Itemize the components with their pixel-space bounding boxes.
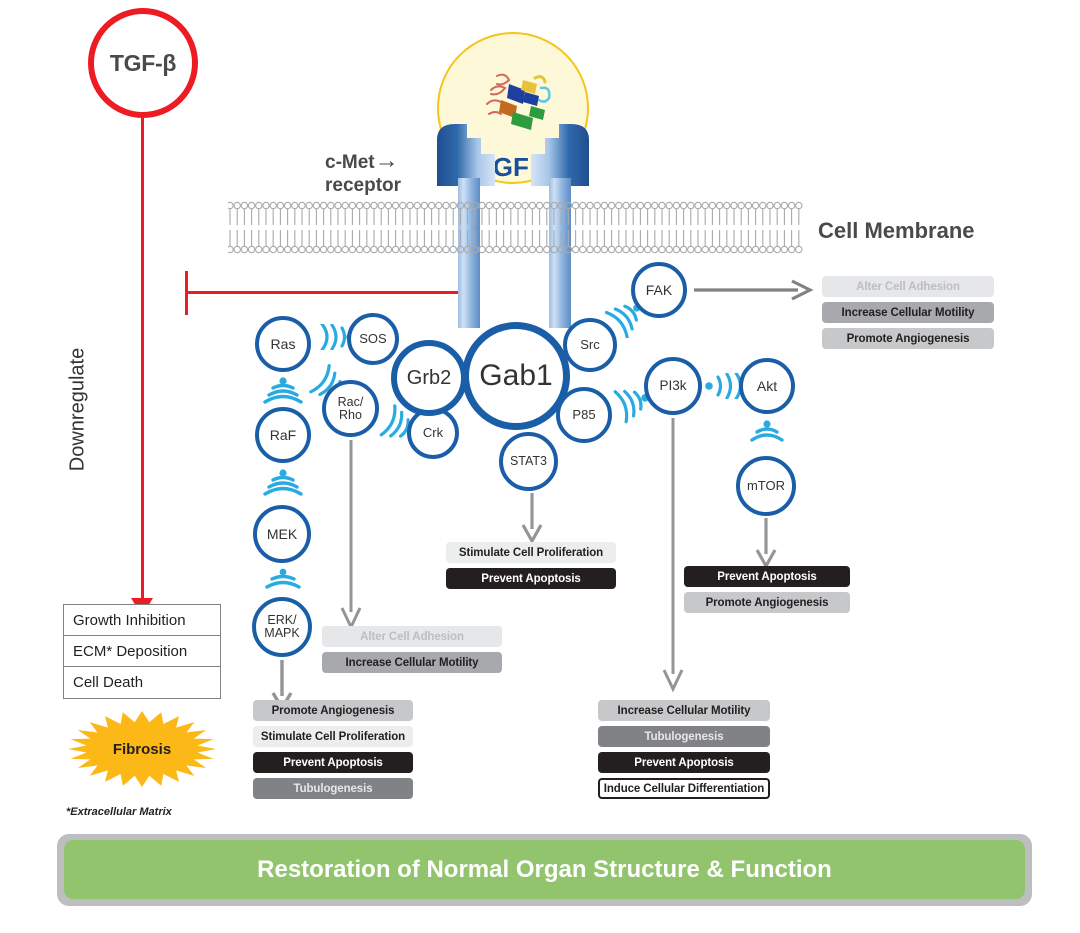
tgf-beta-label: TGF-β <box>110 50 176 77</box>
node-stat3-label: STAT3 <box>510 455 547 468</box>
left-outcome-label: Cell Death <box>73 674 143 691</box>
node-grb2-label: Grb2 <box>407 368 451 389</box>
inhibition-bar-icon <box>185 271 188 315</box>
c-met-left-arm-icon <box>437 124 511 186</box>
cell-membrane-bilayer <box>228 200 808 255</box>
left-outcome-label: Growth Inhibition <box>73 612 186 629</box>
arrow-pi3k-to-outcomes <box>660 418 686 693</box>
outcome-box: Stimulate Cell Proliferation <box>446 542 616 563</box>
arrow-mtor-to-outcomes <box>753 518 779 568</box>
signal-icon-mek-erk <box>263 566 303 594</box>
restoration-banner-text: Restoration of Normal Organ Structure & … <box>257 856 832 884</box>
outcome-group-erk: Promote AngiogenesisStimulate Cell Proli… <box>253 700 413 799</box>
node-fak-label: FAK <box>646 283 672 298</box>
node-pi3k-label: PI3k <box>659 379 686 393</box>
node-rac-rho-label: Rac/ Rho <box>338 396 364 422</box>
outcome-box: Induce Cellular Differentiation <box>598 778 770 799</box>
node-mek[interactable]: MEK <box>253 505 311 563</box>
outcome-box: Prevent Apoptosis <box>446 568 616 589</box>
outcome-box: Tubulogenesis <box>598 726 770 747</box>
arrow-racrho-to-outcomes <box>338 440 364 630</box>
c-met-arrow-icon: → <box>375 147 399 174</box>
outcome-box: Promote Angiogenesis <box>822 328 994 349</box>
signal-icon-akt-mtor <box>747 418 787 448</box>
outcome-box: Promote Angiogenesis <box>684 592 850 613</box>
node-gab1[interactable]: Gab1 <box>462 322 570 430</box>
node-mek-label: MEK <box>267 527 297 542</box>
inhibition-line <box>186 291 463 294</box>
node-erk-mapk[interactable]: ERK/ MAPK <box>252 597 312 657</box>
fibrosis-starburst: Fibrosis <box>66 710 218 788</box>
pathway-diagram: TGF-β Downregulate HGF <box>0 0 1080 933</box>
tgf-beta-downregulate-line <box>141 118 144 613</box>
node-grb2[interactable]: Grb2 <box>391 340 467 416</box>
outcome-box: Stimulate Cell Proliferation <box>253 726 413 747</box>
tgf-beta-node: TGF-β <box>88 8 198 118</box>
outcome-group-stat3: Stimulate Cell ProliferationPrevent Apop… <box>446 542 616 589</box>
node-akt[interactable]: Akt <box>739 358 795 414</box>
node-erk-mapk-label: ERK/ MAPK <box>264 614 299 640</box>
node-raf-label: RaF <box>270 428 296 443</box>
outcome-group-pi3k: Increase Cellular MotilityTubulogenesisP… <box>598 700 770 799</box>
node-sos-label: SOS <box>359 332 386 346</box>
node-p85[interactable]: P85 <box>556 387 612 443</box>
arrow-stat3-to-outcomes <box>519 493 545 543</box>
outcome-box: Prevent Apoptosis <box>253 752 413 773</box>
node-rac-rho[interactable]: Rac/ Rho <box>322 380 379 437</box>
node-fak[interactable]: FAK <box>631 262 687 318</box>
outcome-box: Increase Cellular Motility <box>598 700 770 721</box>
left-outcome-label: ECM* Deposition <box>73 643 187 660</box>
c-met-label-line1: c-Met <box>325 152 375 173</box>
tgf-beta-outcomes-table: Growth Inhibition ECM* Deposition Cell D… <box>63 604 221 699</box>
outcome-group-fak: Alter Cell AdhesionIncrease Cellular Mot… <box>822 276 994 349</box>
node-crk-label: Crk <box>423 426 443 440</box>
outcome-box: Prevent Apoptosis <box>684 566 850 587</box>
node-mtor[interactable]: mTOR <box>736 456 796 516</box>
downregulate-label: Downregulate <box>67 310 90 510</box>
node-raf[interactable]: RaF <box>255 407 311 463</box>
table-row: ECM* Deposition <box>64 636 220 667</box>
outcome-box: Prevent Apoptosis <box>598 752 770 773</box>
outcome-box: Promote Angiogenesis <box>253 700 413 721</box>
c-met-receptor-label: c-Met→ receptor <box>325 148 401 196</box>
outcome-box: Increase Cellular Motility <box>822 302 994 323</box>
node-ras-label: Ras <box>271 337 296 352</box>
node-pi3k[interactable]: PI3k <box>644 357 702 415</box>
ecm-footnote: *Extracellular Matrix <box>66 806 172 818</box>
restoration-banner: Restoration of Normal Organ Structure & … <box>64 840 1025 899</box>
node-sos[interactable]: SOS <box>347 313 399 365</box>
node-p85-label: P85 <box>572 408 595 422</box>
outcome-group-racrho: Alter Cell AdhesionIncrease Cellular Mot… <box>322 626 502 673</box>
node-src-label: Src <box>580 338 600 352</box>
c-met-right-arm-icon <box>518 124 592 186</box>
signal-icon-raf-mek <box>263 466 303 500</box>
node-ras[interactable]: Ras <box>255 316 311 372</box>
outcome-box: Alter Cell Adhesion <box>322 626 502 647</box>
node-stat3[interactable]: STAT3 <box>499 432 558 491</box>
outcome-box: Tubulogenesis <box>253 778 413 799</box>
node-mtor-label: mTOR <box>747 479 785 493</box>
outcome-box: Increase Cellular Motility <box>322 652 502 673</box>
fibrosis-label: Fibrosis <box>66 710 218 788</box>
node-akt-label: Akt <box>757 379 777 394</box>
signal-icon-ras-raf <box>263 374 303 408</box>
table-row: Growth Inhibition <box>64 605 220 636</box>
c-met-label-line2: receptor <box>325 175 401 196</box>
node-gab1-label: Gab1 <box>479 360 552 391</box>
arrow-fak-to-outcomes <box>694 277 814 303</box>
outcome-box: Alter Cell Adhesion <box>822 276 994 297</box>
outcome-group-mtor: Prevent ApoptosisPromote Angiogenesis <box>684 566 850 613</box>
table-row: Cell Death <box>64 667 220 698</box>
cell-membrane-label: Cell Membrane <box>818 218 975 244</box>
